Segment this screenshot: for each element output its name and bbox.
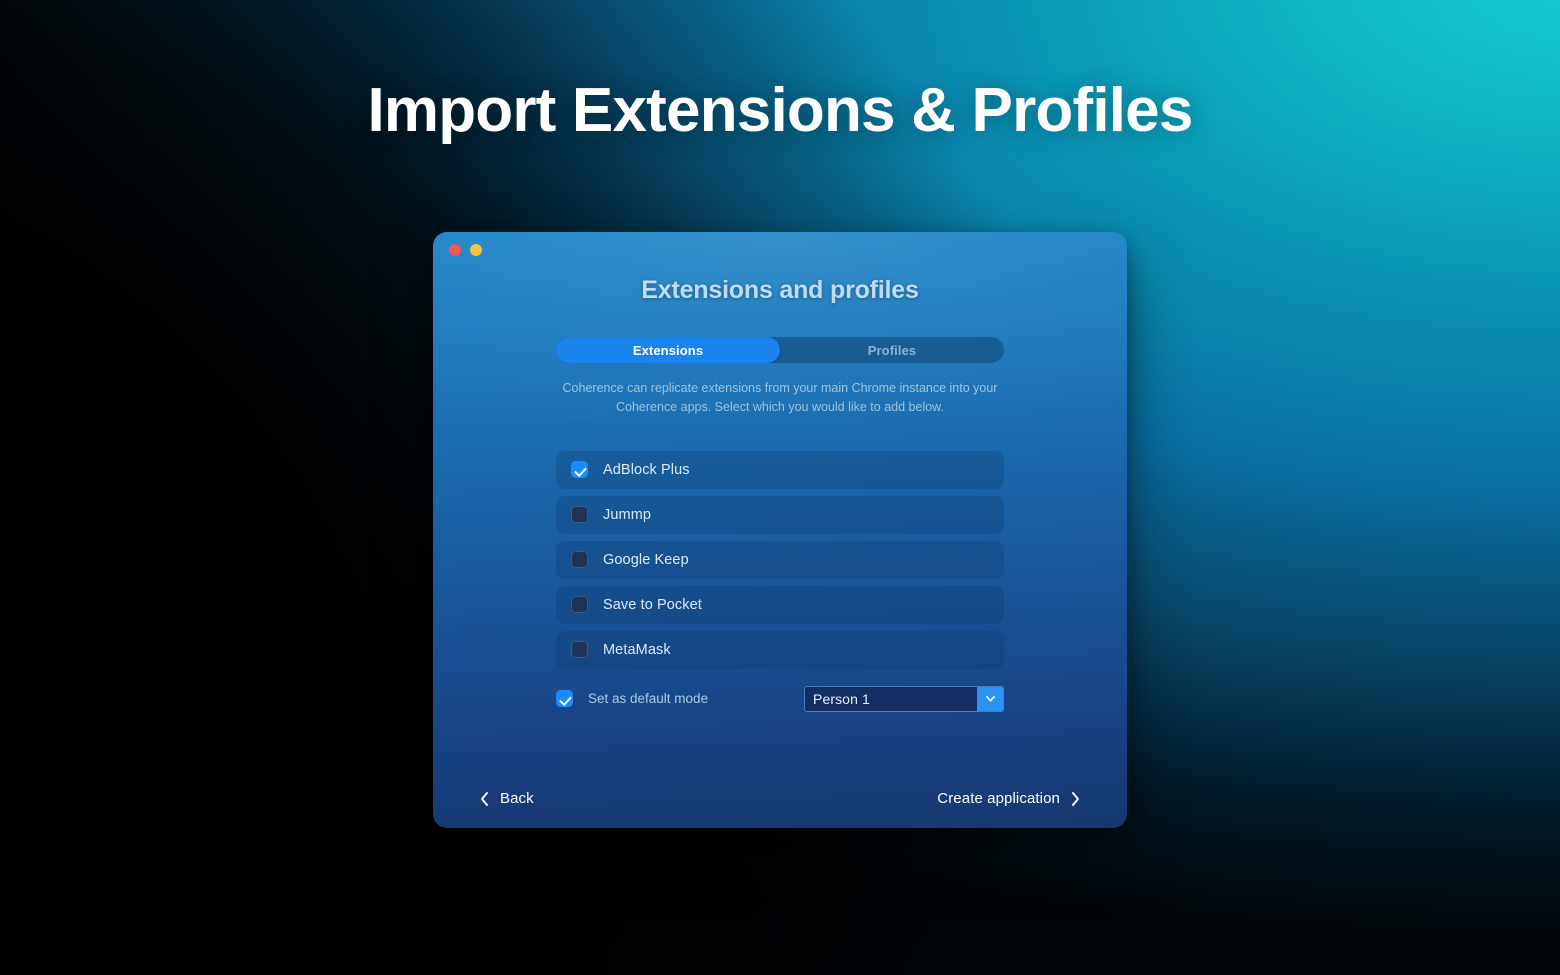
tab-profiles[interactable]: Profiles (780, 337, 1004, 363)
minimize-icon[interactable] (470, 244, 482, 256)
chevron-left-icon (479, 791, 490, 807)
close-icon[interactable] (449, 244, 461, 256)
checkbox-google-keep[interactable] (571, 551, 588, 568)
back-button[interactable]: Back (479, 790, 534, 807)
checkbox-adblock-plus[interactable] (571, 461, 588, 478)
back-button-label: Back (500, 790, 534, 807)
extension-row-adblock-plus[interactable]: AdBlock Plus (556, 451, 1004, 489)
default-mode-row: Set as default mode Person 1 (556, 685, 1004, 713)
profile-select[interactable]: Person 1 (804, 686, 1004, 712)
extension-row-google-keep[interactable]: Google Keep (556, 541, 1004, 579)
create-application-button[interactable]: Create application (937, 790, 1081, 807)
extension-row-jummp[interactable]: Jummp (556, 496, 1004, 534)
checkbox-save-to-pocket[interactable] (571, 596, 588, 613)
tab-extensions-label: Extensions (633, 343, 703, 358)
window-traffic-lights (449, 244, 482, 256)
default-mode-label: Set as default mode (588, 691, 708, 706)
app-window: Extensions and profiles Extensions Profi… (433, 232, 1127, 828)
tab-extensions[interactable]: Extensions (556, 337, 780, 363)
checkbox-set-as-default-mode[interactable] (556, 690, 573, 707)
tab-bar: Extensions Profiles (556, 337, 1004, 363)
chevron-down-icon[interactable] (977, 687, 1003, 711)
window-content: Extensions Profiles Coherence can replic… (556, 337, 1004, 713)
create-application-label: Create application (937, 790, 1060, 807)
extension-row-save-to-pocket[interactable]: Save to Pocket (556, 586, 1004, 624)
window-footer: Back Create application (479, 790, 1081, 807)
checkbox-jummp[interactable] (571, 506, 588, 523)
extension-list: AdBlock Plus Jummp Google Keep Save to P… (556, 451, 1004, 669)
tab-profiles-label: Profiles (868, 343, 916, 358)
description-text: Coherence can replicate extensions from … (556, 379, 1004, 418)
extension-label: Google Keep (603, 552, 689, 568)
checkbox-metamask[interactable] (571, 641, 588, 658)
extension-label: MetaMask (603, 642, 671, 658)
extension-row-metamask[interactable]: MetaMask (556, 631, 1004, 669)
extension-label: AdBlock Plus (603, 462, 690, 478)
extension-label: Save to Pocket (603, 597, 702, 613)
window-title: Extensions and profiles (433, 276, 1127, 305)
page-title: Import Extensions & Profiles (0, 78, 1560, 143)
extension-label: Jummp (603, 507, 651, 523)
chevron-right-icon (1070, 791, 1081, 807)
profile-select-value: Person 1 (805, 691, 977, 707)
